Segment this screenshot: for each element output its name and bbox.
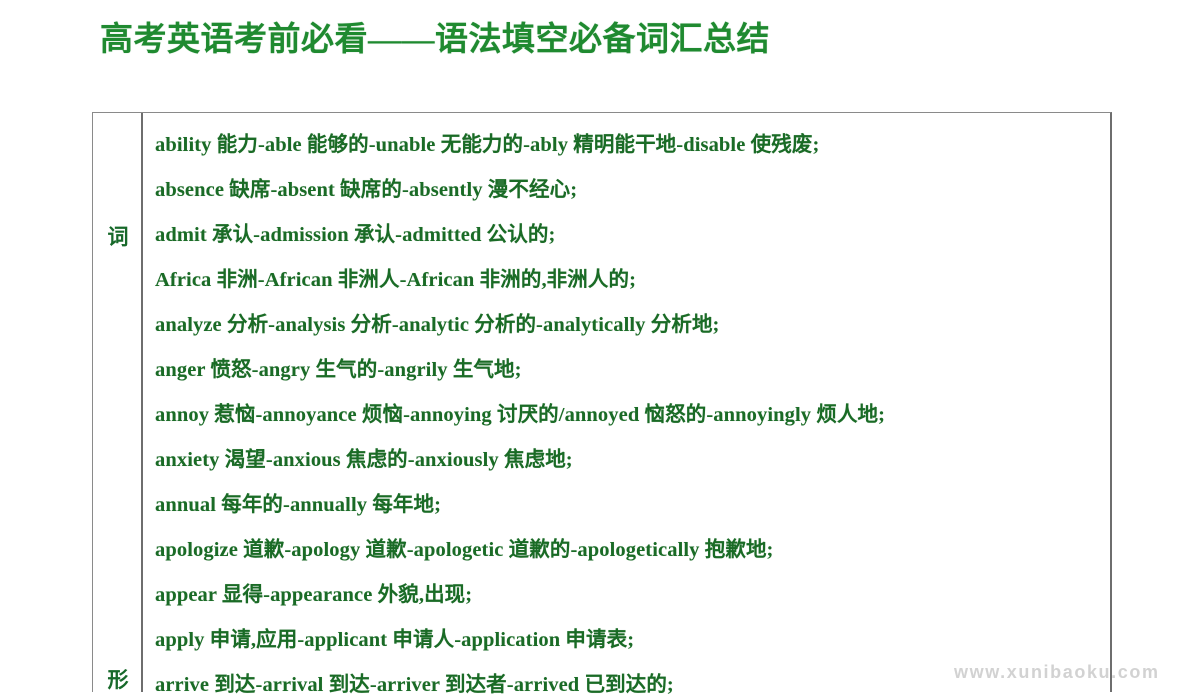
vocabulary-entry: Africa 非洲-African 非洲人-African 非洲的,非洲人的; (155, 268, 636, 292)
vocabulary-entry: arrive 到达-arrival 到达-arriver 到达者-arrived… (155, 673, 674, 697)
category-column: 词 形 (93, 113, 143, 692)
vocabulary-entry: annoy 惹恼-annoyance 烦恼-annoying 讨厌的/annoy… (155, 403, 885, 427)
vocabulary-entry: ability 能力-able 能够的-unable 无能力的-ably 精明能… (155, 133, 819, 157)
vocabulary-entry: admit 承认-admission 承认-admitted 公认的; (155, 223, 555, 247)
vocabulary-entry: appear 显得-appearance 外貌,出现; (155, 583, 472, 607)
page-title: 高考英语考前必看——语法填空必备词汇总结 (100, 12, 770, 60)
category-label-word: 词 (93, 221, 143, 251)
entries-column: ability 能力-able 能够的-unable 无能力的-ably 精明能… (143, 113, 1110, 692)
vocabulary-entry: anger 愤怒-angry 生气的-angrily 生气地; (155, 358, 522, 382)
vocabulary-entry: apologize 道歉-apology 道歉-apologetic 道歉的-a… (155, 538, 773, 562)
category-label-form: 形 (93, 664, 143, 694)
vocabulary-entry: analyze 分析-analysis 分析-analytic 分析的-anal… (155, 313, 719, 337)
vocabulary-entry: apply 申请,应用-applicant 申请人-application 申请… (155, 628, 634, 652)
vocabulary-table: 词 形 ability 能力-able 能够的-unable 无能力的-ably… (92, 112, 1112, 692)
vocabulary-entry: annual 每年的-annually 每年地; (155, 493, 441, 517)
vocabulary-entry: anxiety 渴望-anxious 焦虑的-anxiously 焦虑地; (155, 448, 573, 472)
site-watermark: www.xunibaoku.com (954, 662, 1160, 683)
vocabulary-entry: absence 缺席-absent 缺席的-absently 漫不经心; (155, 178, 577, 202)
